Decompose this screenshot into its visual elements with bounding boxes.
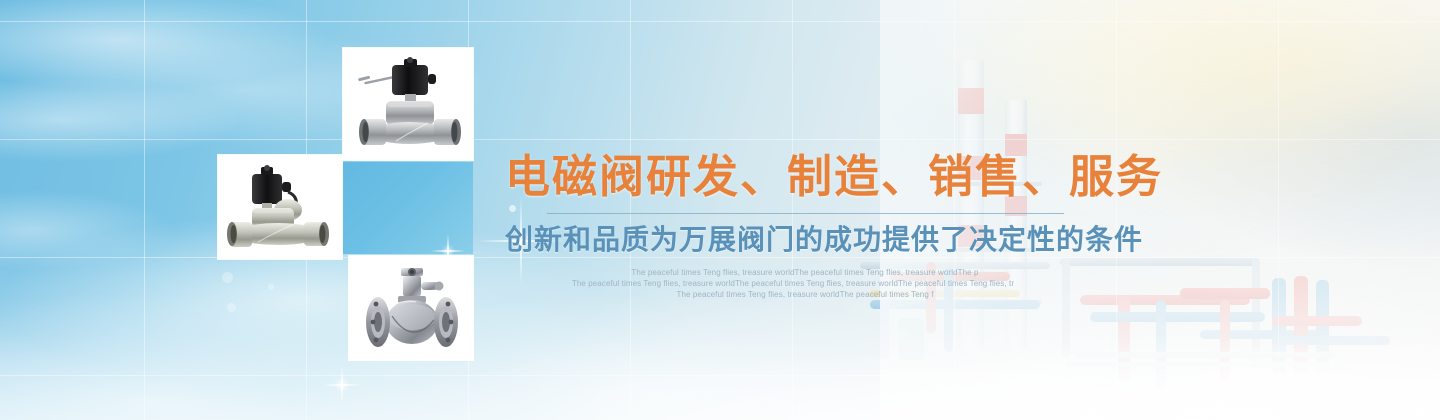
blurb-line-2: The peaceful times Teng flies, treasure …: [481, 278, 1105, 289]
blurb-line-3: The peaceful times Teng flies, treasure …: [505, 289, 1105, 300]
headline-divider: [547, 213, 1064, 214]
bokeh-dot: [227, 303, 236, 312]
product-tile-3[interactable]: [349, 256, 473, 360]
banner-headline: 电磁阀研发、制造、销售、服务: [505, 150, 1105, 204]
solenoid-valve-threaded-compact-icon: [226, 162, 334, 252]
bokeh-dot: [268, 284, 274, 290]
blurb-line-1: The peaceful times Teng flies, treasure …: [505, 267, 1105, 278]
product-tile-2[interactable]: [218, 155, 342, 259]
solenoid-valve-flanged-icon: [356, 262, 466, 354]
bokeh-dot: [222, 272, 233, 283]
product-tile-1[interactable]: [343, 48, 473, 160]
banner-blurb: The peaceful times Teng flies, treasure …: [505, 267, 1105, 300]
banner-copy: 电磁阀研发、制造、销售、服务 创新和品质为万展阀门的成功提供了决定性的条件 Th…: [505, 150, 1105, 300]
decorative-blue-panel: [343, 162, 473, 254]
banner-subheadline: 创新和品质为万展阀门的成功提供了决定性的条件: [505, 223, 1105, 257]
hero-banner: 电磁阀研发、制造、销售、服务 创新和品质为万展阀门的成功提供了决定性的条件 Th…: [0, 0, 1440, 420]
solenoid-valve-threaded-horizontal-icon: [352, 57, 464, 151]
